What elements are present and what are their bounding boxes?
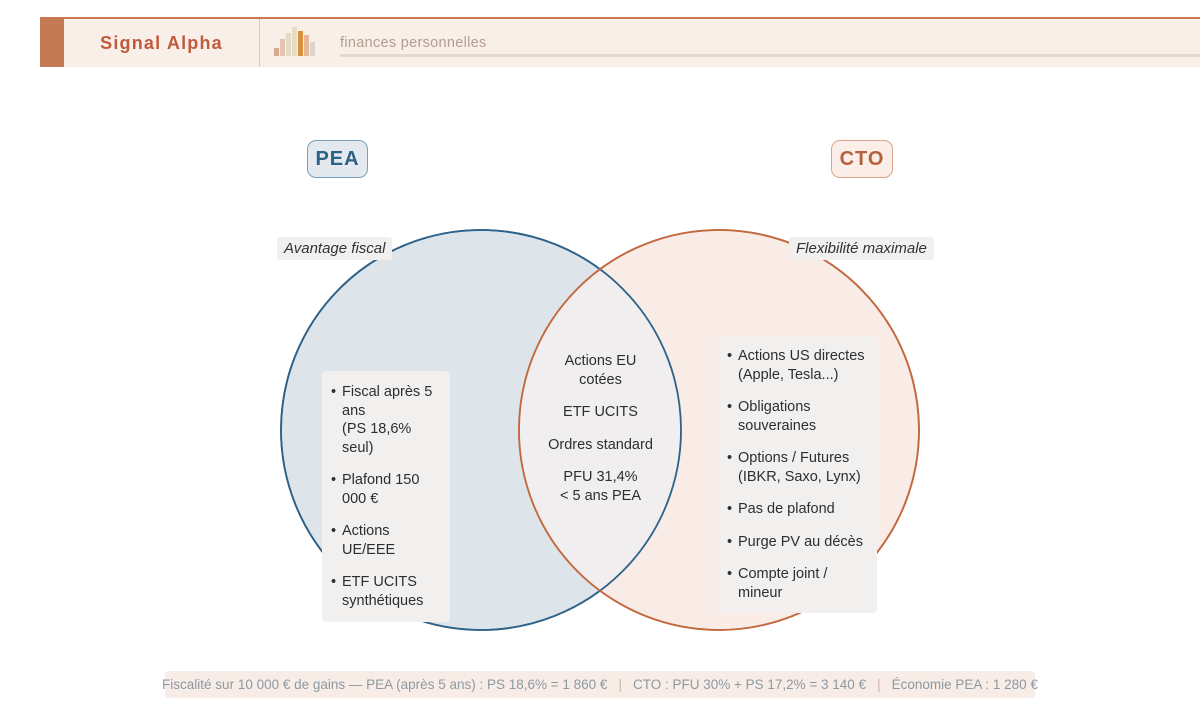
overlap-panel: Actions EU cotées ETF UCITS Ordres stand… (540, 352, 661, 505)
pea-only-panel: Fiscal après 5 ans (PS 18,6% seul) Plafo… (322, 371, 450, 622)
list-item: Options / Futures (IBKR, Saxo, Lynx) (727, 449, 869, 486)
set-badge-cto[interactable]: CTO (831, 140, 893, 178)
list-item: PFU 31,4% < 5 ans PEA (540, 468, 661, 505)
set-caption-left: Avantage fiscal (277, 237, 392, 260)
list-item: Compte joint / mineur (727, 565, 869, 602)
list-item: Pas de plafond (727, 500, 869, 519)
footer-separator: | (607, 677, 633, 692)
summary-footer: Fiscalité sur 10 000 € de gains — PEA (a… (165, 671, 1035, 698)
cto-only-panel: Actions US directes (Apple, Tesla...) Ob… (717, 336, 877, 613)
venn-diagram: PEA CTO Avantage fiscal Flexibilité maxi… (0, 0, 1200, 721)
list-item: Actions UE/EEE (331, 522, 442, 559)
footer-segment-cto: CTO : PFU 30% + PS 17,2% = 3 140 € (633, 677, 866, 692)
footer-segment-economy: Économie PEA : 1 280 € (892, 677, 1038, 692)
list-item: Purge PV au décès (727, 533, 869, 552)
set-badge-pea[interactable]: PEA (307, 140, 368, 178)
list-item: Actions US directes (Apple, Tesla...) (727, 347, 869, 384)
list-item: Obligations souveraines (727, 398, 869, 435)
footer-separator: | (866, 677, 892, 692)
list-item: Fiscal après 5 ans (PS 18,6% seul) (331, 383, 442, 457)
list-item: Ordres standard (540, 436, 661, 455)
list-item: Actions EU cotées (540, 352, 661, 389)
list-item: ETF UCITS synthétiques (331, 573, 442, 610)
list-item: Plafond 150 000 € (331, 471, 442, 508)
list-item: ETF UCITS (540, 403, 661, 422)
set-caption-right: Flexibilité maximale (789, 237, 934, 260)
footer-segment-pea: Fiscalité sur 10 000 € de gains — PEA (a… (162, 677, 607, 692)
